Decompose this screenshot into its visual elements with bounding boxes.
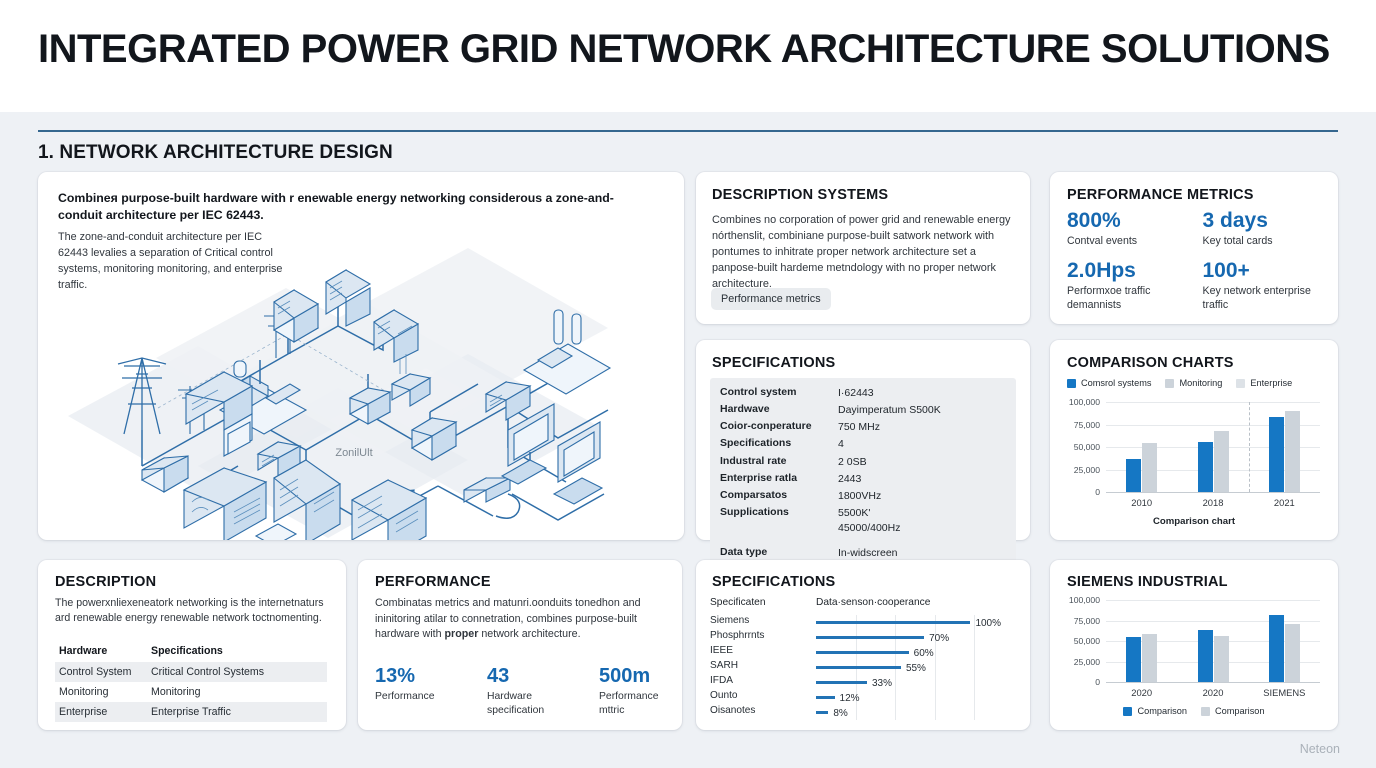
metric-label: Contval events <box>1067 235 1190 249</box>
siemens-industrial-card: SIEMENS INDUSTRIAL 025,00050,00075,00010… <box>1050 560 1338 730</box>
hbar-label: Oisanotes <box>710 705 755 716</box>
chart-bar <box>1142 443 1157 492</box>
y-axis-tick: 0 <box>1064 677 1100 687</box>
metric-value: 800% <box>1067 210 1190 232</box>
spec-value: I·62443 <box>838 386 1016 400</box>
hbar-value: 8% <box>833 708 847 719</box>
hbar-fill <box>816 681 867 684</box>
performance-body-post: network architecture. <box>478 628 580 640</box>
performance-metrics-card: PERFORMANCE METRICS 800%Contval events3 … <box>1050 172 1338 324</box>
siemens-industrial-title: SIEMENS INDUSTRIAL <box>1067 574 1228 590</box>
chart-separator <box>1249 402 1250 492</box>
hbar-value: 55% <box>906 663 926 674</box>
performance-stat-label: Performance <box>375 690 461 704</box>
metric-value: 100+ <box>1203 260 1326 282</box>
spec-value: 2443 <box>838 472 1016 486</box>
specifications-bars-col1-header: Specificaten <box>710 597 766 608</box>
hbar-gridline <box>935 705 936 720</box>
x-axis-tick: 2010 <box>1106 497 1177 508</box>
legend-item: Comsrol systems <box>1067 378 1151 388</box>
spec-key: Data type <box>710 546 838 560</box>
metric-label: Key network enterprise traffic <box>1203 285 1326 313</box>
spec-value: 1800VHz <box>838 489 1016 503</box>
hbar-label: IFDA <box>710 675 733 686</box>
performance-stat: 500mPerformance mttric <box>599 665 685 717</box>
hbar-track: 70% <box>816 634 1014 640</box>
specifications-table-card: SPECIFICATIONS Control systemI·62443Hard… <box>696 340 1030 540</box>
legend-swatch <box>1067 379 1076 388</box>
chart-bar <box>1198 442 1213 492</box>
description-mini-table: HardwareSpecificationsControl SystemCrit… <box>55 642 327 722</box>
chart-bar <box>1198 630 1213 682</box>
spec-gap <box>710 536 1016 544</box>
x-axis-tick: SIEMENS <box>1249 687 1320 698</box>
spec-row: Supplications5500K'45000/400Hz <box>710 505 1016 537</box>
hbar-gridline <box>974 645 975 660</box>
legend-label: Comsrol systems <box>1081 378 1151 388</box>
page-header: INTEGRATED POWER GRID NETWORK ARCHITECTU… <box>0 0 1376 112</box>
chart-bar <box>1214 636 1229 682</box>
spec-row: Industral rate2 0SB <box>710 453 1016 470</box>
hbar-row: IEEE60% <box>710 644 1018 659</box>
chart-bar <box>1269 615 1284 682</box>
metric-item: 100+Key network enterprise traffic <box>1203 260 1326 313</box>
hbar-row: Siemens100% <box>710 614 1018 629</box>
performance-stat: 43Hardware specification <box>487 665 573 717</box>
comparison-charts-card: COMPARISON CHARTS Comsrol systemsMonitor… <box>1050 340 1338 540</box>
spec-row: Comparsatos1800VHz <box>710 488 1016 505</box>
hbar-label: Siemens <box>710 615 749 626</box>
metric-label: Performxoe traffic demannists <box>1067 285 1190 313</box>
hbar-row: IFDA33% <box>710 674 1018 689</box>
mini-table-cell: Enterprise Traffic <box>147 706 327 718</box>
spec-value: Dayimperatum S500K <box>838 403 1016 417</box>
mini-table-row: Control SystemCritical Control Systems <box>55 662 327 682</box>
description-body: The powerxnliexeneatork networking is th… <box>55 596 330 627</box>
y-axis-tick: 50,000 <box>1064 442 1100 452</box>
hbar-track: 8% <box>816 709 1014 715</box>
spec-row: HardwavеDayimperatum S500K <box>710 401 1016 418</box>
hbar-label: Ounto <box>710 690 738 701</box>
comparison-charts-legend: Comsrol systemsMonitoringEnterprise <box>1067 378 1292 388</box>
chart-bar <box>1285 624 1300 682</box>
hbar-row: Phosphrrnts70% <box>710 629 1018 644</box>
axis-baseline <box>1106 682 1320 683</box>
spec-key: Supplications <box>710 506 838 535</box>
performance-body-bold: proper <box>445 628 479 640</box>
hbar-value: 100% <box>975 618 1001 629</box>
performance-stat-value: 500m <box>599 665 685 687</box>
infographic-page: INTEGRATED POWER GRID NETWORK ARCHITECTU… <box>0 0 1376 768</box>
x-axis-tick: 2018 <box>1177 497 1248 508</box>
legend-label: Comparison <box>1137 706 1187 716</box>
performance-body: Combinatas metrics and matunri.oonduits … <box>375 596 665 643</box>
gridline <box>1106 621 1320 622</box>
spec-value: In-widscreen <box>838 546 1016 560</box>
y-axis-tick: 75,000 <box>1064 616 1100 626</box>
metric-item: 800%Contval events <box>1067 210 1190 249</box>
comparison-charts-title: COMPARISON CHARTS <box>1067 355 1234 371</box>
watermark: Neteon <box>1300 742 1340 756</box>
mini-table-cell: Control System <box>55 666 147 678</box>
hbar-value: 12% <box>840 693 860 704</box>
legend-item: Comparison <box>1201 706 1265 716</box>
chart-bar <box>1285 411 1300 492</box>
spec-value: 750 MHz <box>838 420 1016 434</box>
comparison-chart-caption: Comparison chart <box>1050 516 1338 527</box>
hbar-gridline <box>935 645 936 660</box>
hbar-gridline <box>935 675 936 690</box>
legend-label: Monitoring <box>1179 378 1222 388</box>
hbar-gridline <box>974 705 975 720</box>
description-title: DESCRIPTION <box>55 574 156 590</box>
legend-swatch <box>1201 707 1210 716</box>
hbar-fill <box>816 711 828 714</box>
hbar-value: 60% <box>914 648 934 659</box>
hbar-label: IEEE <box>710 645 733 656</box>
description-systems-title: DESCRIPTION SYSTEMS <box>712 187 888 203</box>
y-axis-tick: 100,000 <box>1064 397 1100 407</box>
gridline <box>1106 600 1320 601</box>
diagram-zone-label: ZonilUlt <box>335 447 372 459</box>
legend-item: Enterprise <box>1236 378 1292 388</box>
spec-key: Industral rate <box>710 455 838 469</box>
description-card: DESCRIPTION The powerxnliexeneatork netw… <box>38 560 346 730</box>
diagram-body-text: The zone-and-conduit architecture per IE… <box>58 230 288 293</box>
hbar-fill <box>816 621 970 624</box>
network-diagram-card: .zn { fill:#e8ecf1; opacity:.72; } .zn2 … <box>38 172 684 540</box>
specifications-bars-col2-header: Data·senson·cooperance <box>816 597 930 608</box>
y-axis-tick: 75,000 <box>1064 420 1100 430</box>
mini-table-cell: Enterprise <box>55 706 147 718</box>
chart-bar <box>1142 634 1157 682</box>
mini-table-col-header: Hardware <box>55 645 147 657</box>
spec-key: Enterprise ratla <box>710 472 838 486</box>
siemens-industrial-plot: 025,00050,00075,000100,00020202020SIEMEN… <box>1064 596 1324 700</box>
legend-label: Enterprise <box>1250 378 1292 388</box>
y-axis-tick: 50,000 <box>1064 636 1100 646</box>
mini-table-header: HardwareSpecifications <box>55 642 327 662</box>
x-axis-tick: 2020 <box>1177 687 1248 698</box>
hbar-gridline <box>895 705 896 720</box>
chart-bar <box>1214 431 1229 492</box>
performance-stat-value: 43 <box>487 665 573 687</box>
hbar-value: 33% <box>872 678 892 689</box>
hbar-row: Ounto12% <box>710 689 1018 704</box>
performance-title: PERFORMANCE <box>375 574 491 590</box>
x-axis-tick: 2020 <box>1106 687 1177 698</box>
hbar-gridline <box>935 660 936 675</box>
hbar-gridline <box>974 690 975 705</box>
metric-label: Key total cards <box>1203 235 1326 249</box>
siemens-industrial-legend: ComparisonComparison <box>1050 706 1338 716</box>
comparison-charts-plot: 025,00050,00075,000100,000201020182021 <box>1064 398 1324 510</box>
x-axis-tick: 2021 <box>1249 497 1320 508</box>
section-divider <box>38 130 1338 132</box>
specifications-table-title: SPECIFICATIONS <box>712 355 835 371</box>
gridline <box>1106 402 1320 403</box>
mini-table-row: EnterpriseEnterprise Traffic <box>55 702 327 722</box>
y-axis-tick: 25,000 <box>1064 465 1100 475</box>
spec-row: Coіor-conperature750 MHz <box>710 419 1016 436</box>
hbar-label: Phosphrrnts <box>710 630 764 641</box>
hbar-track: 12% <box>816 694 1014 700</box>
section-heading: 1. NETWORK ARCHITECTURE DESIGN <box>38 142 393 164</box>
mini-table-row: MonitoringMonitoring <box>55 682 327 702</box>
performance-stats: 13%Performance43Hardware specification50… <box>375 665 685 717</box>
specifications-bars-card: SPECIFICATIONS Specificaten Data·senson·… <box>696 560 1030 730</box>
performance-stat-label: Performance mttric <box>599 690 685 717</box>
hbar-gridline <box>895 690 896 705</box>
mini-table-cell: Monitoring <box>147 686 327 698</box>
legend-swatch <box>1236 379 1245 388</box>
mini-table-cell: Monitoring <box>55 686 147 698</box>
metric-item: 2.0HpsPerformxoe traffic demannists <box>1067 260 1190 313</box>
spec-key: Hardwavе <box>710 403 838 417</box>
hbar-track: 55% <box>816 664 1014 670</box>
performance-stat: 13%Performance <box>375 665 461 717</box>
hbar-label: SARH <box>710 660 738 671</box>
specifications-bars-rows: Siemens100%Phosphrrnts70%IEEE60%SARH55%I… <box>710 614 1018 719</box>
metric-item: 3 daysKey total cards <box>1203 210 1326 249</box>
hbar-gridline <box>856 705 857 720</box>
specifications-table: Control systemI·62443HardwavеDayimperatu… <box>710 378 1016 568</box>
hbar-gridline <box>935 690 936 705</box>
hbar-fill <box>816 696 835 699</box>
spec-value: 5500K'45000/400Hz <box>838 506 1016 535</box>
performance-stat-label: Hardware specification <box>487 690 573 717</box>
legend-swatch <box>1123 707 1132 716</box>
spec-value: 2 0SB <box>838 455 1016 469</box>
description-systems-body: Combines no corporation of power grid an… <box>712 212 1012 292</box>
hbar-row: Oisanotes8% <box>710 704 1018 719</box>
hbar-fill <box>816 651 909 654</box>
hbar-value: 70% <box>929 633 949 644</box>
mini-table-cell: Critical Control Systems <box>147 666 327 678</box>
chart-bar <box>1126 637 1141 682</box>
hbar-gridline <box>974 675 975 690</box>
mini-table-col-header: Specifications <box>147 645 327 657</box>
page-title: INTEGRATED POWER GRID NETWORK ARCHITECTU… <box>38 27 1330 72</box>
spec-key: Specifications <box>710 437 838 451</box>
spec-key: Control system <box>710 386 838 400</box>
performance-stat-value: 13% <box>375 665 461 687</box>
legend-item: Comparison <box>1123 706 1187 716</box>
description-systems-card: DESCRIPTION SYSTEMS Combines no corporat… <box>696 172 1030 324</box>
legend-label: Comparison <box>1215 706 1265 716</box>
spec-key: Coіor-conperature <box>710 420 838 434</box>
diagram-lead-text: Combineя purpose-built hardware with r e… <box>58 190 618 225</box>
y-axis-tick: 100,000 <box>1064 595 1100 605</box>
hbar-gridline <box>974 660 975 675</box>
specifications-bars-title: SPECIFICATIONS <box>712 574 835 590</box>
spec-row: Control systemI·62443 <box>710 384 1016 401</box>
metric-value: 3 days <box>1203 210 1326 232</box>
spec-row: Enterprise ratla2443 <box>710 470 1016 487</box>
metric-value: 2.0Hps <box>1067 260 1190 282</box>
spec-value: 4 <box>838 437 1016 451</box>
hbar-fill <box>816 666 901 669</box>
performance-card: PERFORMANCE Combinatas metrics and matun… <box>358 560 682 730</box>
chart-bar <box>1269 417 1284 492</box>
chart-bar <box>1126 459 1141 492</box>
legend-item: Monitoring <box>1165 378 1222 388</box>
hbar-gridline <box>974 630 975 645</box>
performance-metrics-chip[interactable]: Performance metrics <box>711 288 831 310</box>
performance-metrics-title: PERFORMANCE METRICS <box>1067 187 1254 203</box>
y-axis-tick: 0 <box>1064 487 1100 497</box>
spec-key: Comparsatos <box>710 489 838 503</box>
legend-swatch <box>1165 379 1174 388</box>
axis-baseline <box>1106 492 1320 493</box>
hbar-row: SARH55% <box>710 659 1018 674</box>
y-axis-tick: 25,000 <box>1064 657 1100 667</box>
hbar-gridline <box>895 675 896 690</box>
performance-metrics-grid: 800%Contval events3 daysKey total cards2… <box>1067 210 1325 313</box>
spec-row: Specifications4 <box>710 436 1016 453</box>
hbar-track: 33% <box>816 679 1014 685</box>
hbar-track: 100% <box>816 619 1014 625</box>
hbar-fill <box>816 636 924 639</box>
hbar-track: 60% <box>816 649 1014 655</box>
